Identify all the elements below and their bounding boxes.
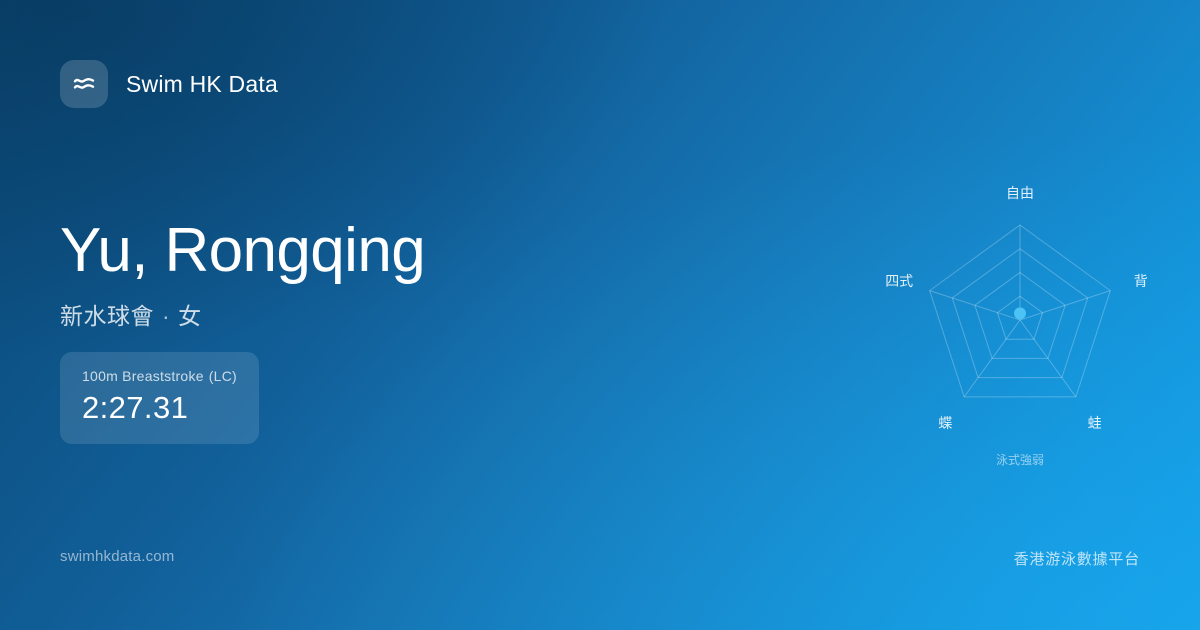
- radar-spoke-四式: [930, 291, 1020, 320]
- radar-series: [1014, 307, 1026, 320]
- stat-course-badge: (LC): [204, 368, 237, 384]
- radar-data-point: [1014, 307, 1026, 319]
- share-card: Swim HK Data Yu, Rongqing 新水球會·女 100m Br…: [0, 0, 1200, 630]
- athlete-meta: 新水球會·女: [60, 297, 425, 331]
- athlete-gender: 女: [178, 303, 202, 329]
- athlete-club: 新水球會: [60, 303, 154, 329]
- radar-axis-label-泳式強弱-1: 背: [1134, 271, 1148, 291]
- athlete-block: Yu, Rongqing 新水球會·女: [60, 218, 425, 331]
- radar-axis-label-泳式強弱-0: 自由: [1006, 183, 1034, 203]
- footer-site-url[interactable]: swimhkdata.com: [60, 548, 175, 565]
- stroke-strength-radar-chart: 自由背蛙蝶四式 泳式強弱: [860, 168, 1180, 468]
- radar-axis-label-泳式強弱-3: 蝶: [938, 413, 952, 433]
- highlight-stat-card[interactable]: 100m Breaststroke(LC) 2:27.31: [60, 352, 259, 444]
- stat-time-value: 2:27.31: [82, 390, 237, 426]
- radar-axis-label-泳式強弱-2: 蛙: [1088, 413, 1102, 433]
- meta-separator: ·: [154, 303, 178, 330]
- stat-event-row: 100m Breaststroke(LC): [82, 368, 237, 384]
- page-title: Yu, Rongqing: [60, 218, 425, 285]
- footer-tagline: 香港游泳數據平台: [1014, 548, 1140, 569]
- radar-caption: 泳式強弱: [996, 451, 1044, 468]
- radar-axis-label-泳式強弱-4: 四式: [885, 271, 913, 291]
- brand-name: Swim HK Data: [126, 71, 278, 98]
- stat-event-name: 100m Breaststroke: [82, 368, 204, 384]
- wave-icon: [60, 60, 108, 108]
- radar-spoke-背: [1020, 291, 1110, 320]
- brand-header[interactable]: Swim HK Data: [60, 60, 278, 108]
